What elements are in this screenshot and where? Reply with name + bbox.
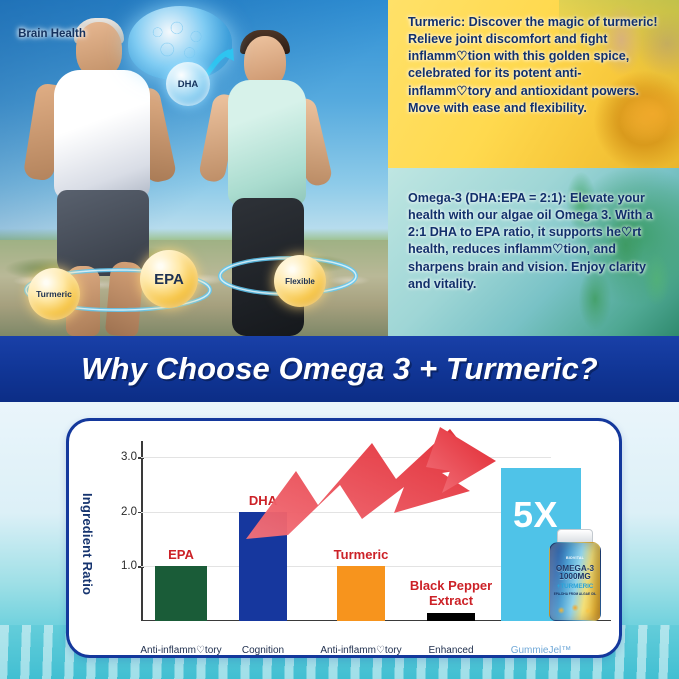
chart-section: Ingredient Ratio 1.02.03.0EPAAnti-inflam… — [0, 402, 679, 679]
bar-2 — [239, 512, 287, 621]
bar-label-1: EPA — [168, 547, 194, 562]
y-axis-label: Ingredient Ratio — [77, 469, 95, 619]
bubble-epa: EPA — [140, 250, 198, 308]
dha-bubble: DHA — [166, 62, 210, 106]
bubble-flexible: Flexible — [274, 255, 326, 307]
bar-label-3: Turmeric — [334, 547, 389, 562]
male-tank-top — [54, 70, 150, 200]
bottle-brand: BIOVITAL — [550, 556, 600, 560]
y-tick-1.0: 1.0 — [107, 560, 137, 572]
bar-label-line: Black Pepper — [410, 578, 492, 593]
bar-label-line: DHA — [249, 493, 277, 508]
bar-label-line: Turmeric — [334, 547, 389, 562]
x-category-line: absorpt — [434, 657, 467, 658]
x-category-2: Cognitionvision — [209, 645, 317, 658]
bubble-turmeric: Turmeric — [28, 268, 80, 320]
brain-health-label: Brain Health — [0, 28, 104, 40]
omega-description: Omega-3 (DHA:EPA = 2:1): Elevate your he… — [388, 168, 679, 293]
bar-1 — [155, 566, 207, 621]
bar-label-line: EPA — [168, 547, 194, 562]
bottle-plus-turmeric: +TURMERIC — [550, 583, 600, 590]
chart-plot-area: 1.02.03.0EPAAnti-inflamm♡toryDHACognitio… — [141, 441, 611, 621]
headline-banner: Why Choose Omega 3 + Turmeric? — [0, 336, 679, 402]
bar-label-2: DHA — [249, 493, 277, 508]
turmeric-info-panel: Turmeric: Discover the magic of turmeric… — [388, 0, 679, 168]
y-tick-3.0: 3.0 — [107, 451, 137, 463]
male-leg-right — [105, 261, 144, 336]
bottle-label: BIOVITALOMEGA-31000MG+TURMERICEPA-DHA FR… — [549, 542, 601, 621]
x-category-line: Antioxidant — [336, 657, 385, 658]
x-category-line: GummieJel™ — [511, 645, 572, 656]
omega-info-panel: Omega-3 (DHA:EPA = 2:1): Elevate your he… — [388, 168, 679, 336]
y-axis-line — [141, 441, 143, 621]
bar-4 — [427, 613, 475, 621]
hero-section: Brain Health DHA Turmeric EPA Flexible T… — [0, 0, 679, 336]
bar-label-line: Extract — [429, 593, 473, 608]
x-category-5: GummieJel™ — [487, 645, 595, 657]
x-category-line: Cognition — [242, 645, 284, 656]
page-title: Why Choose Omega 3 + Turmeric? — [81, 351, 598, 387]
bar-3 — [337, 566, 385, 621]
gridline — [141, 457, 551, 458]
up-arrow-icon — [203, 44, 237, 78]
x-category-line: Enhanced — [428, 645, 473, 656]
turmeric-description: Turmeric: Discover the magic of turmeric… — [388, 0, 679, 117]
bar-label-4: Black PepperExtract — [410, 578, 492, 608]
x-category-line: Anti-inflamm♡tory — [320, 645, 401, 656]
x-category-line: vision — [250, 657, 276, 658]
product-bottle: BIOVITALOMEGA-31000MG+TURMERICEPA-DHA FR… — [545, 529, 605, 621]
y-tick-2.0: 2.0 — [107, 506, 137, 518]
chart-card: Ingredient Ratio 1.02.03.0EPAAnti-inflam… — [66, 418, 622, 658]
gridline — [141, 512, 551, 513]
bottle-title: OMEGA-31000MG — [550, 565, 600, 582]
female-tank-top — [228, 80, 306, 206]
bottle-gummies-art — [553, 595, 599, 617]
hero-photo: Brain Health DHA Turmeric EPA Flexible — [0, 0, 388, 336]
